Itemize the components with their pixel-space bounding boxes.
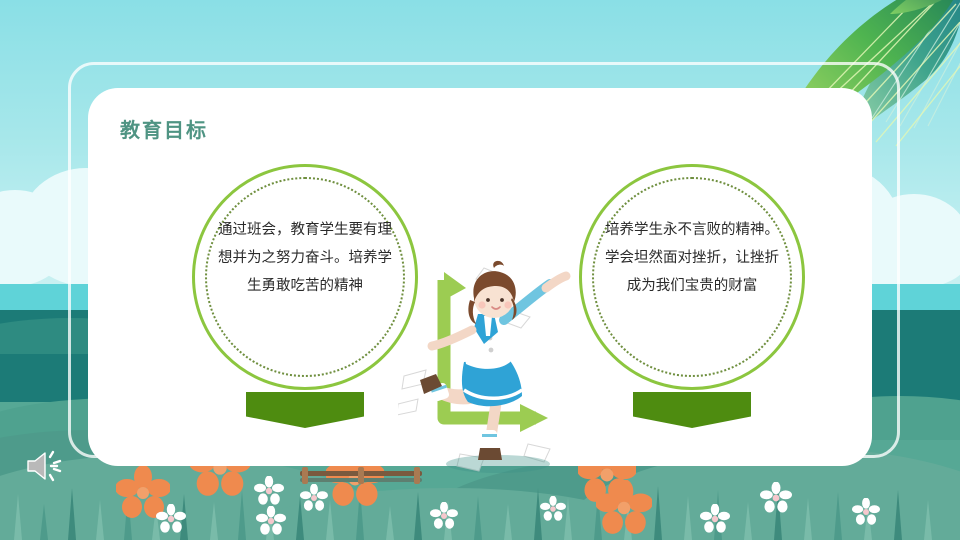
white-flower xyxy=(700,504,730,534)
speaker-icon[interactable] xyxy=(24,448,68,484)
white-flower xyxy=(430,502,458,530)
goal-circle-1[interactable]: 通过班会，教育学生要有理想并为之努力奋斗。培养学生勇敢吃苦的精神 xyxy=(192,164,418,390)
goal-text-1: 通过班会，教育学生要有理想并为之努力奋斗。培养学生勇敢吃苦的精神 xyxy=(218,216,392,300)
white-flower xyxy=(300,484,328,512)
goal-circle-2[interactable]: 培养学生永不言败的精神。学会坦然面对挫折，让挫折成为我们宝贵的财富 xyxy=(579,164,805,390)
white-flower xyxy=(852,498,880,526)
white-flower xyxy=(156,504,186,534)
white-flower xyxy=(254,476,284,506)
white-flower xyxy=(540,496,566,522)
presentation-slide: 教育目标 xyxy=(0,0,960,540)
orange-flower xyxy=(596,480,652,536)
white-flower xyxy=(760,482,792,514)
jumping-girl-illustration xyxy=(398,258,603,473)
page-title: 教育目标 xyxy=(120,114,208,143)
white-flower xyxy=(256,506,286,536)
goal-text-2: 培养学生永不言败的精神。学会坦然面对挫折，让挫折成为我们宝贵的财富 xyxy=(605,216,779,300)
